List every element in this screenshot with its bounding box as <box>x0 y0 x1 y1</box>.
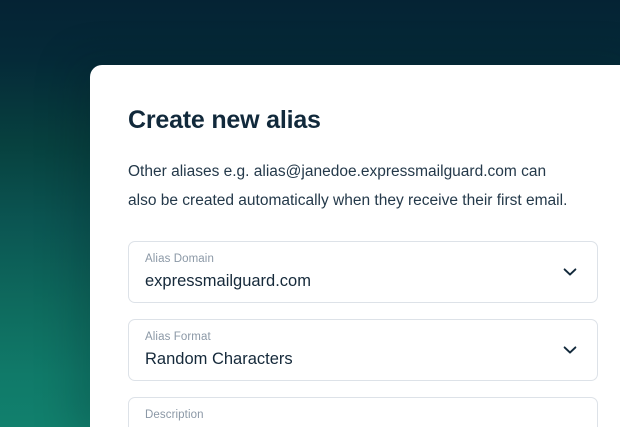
alias-form: Alias Domain expressmailguard.com Alias … <box>128 241 620 427</box>
create-alias-dialog: Create new alias Other aliases e.g. alia… <box>90 65 620 427</box>
dialog-description: Other aliases e.g. alias@janedoe.express… <box>128 157 570 215</box>
alias-domain-value: expressmailguard.com <box>145 270 583 293</box>
screenshot-viewport: Create new alias Other aliases e.g. alia… <box>0 0 620 427</box>
chevron-down-icon[interactable] <box>561 263 579 281</box>
page-title: Create new alias <box>128 105 620 135</box>
description-label: Description <box>145 407 583 423</box>
dialog-content: Create new alias Other aliases e.g. alia… <box>90 65 620 427</box>
alias-format-label: Alias Format <box>145 329 583 345</box>
alias-format-select[interactable]: Alias Format Random Characters <box>128 319 598 381</box>
alias-domain-select[interactable]: Alias Domain expressmailguard.com <box>128 241 598 303</box>
description-input[interactable]: Description <box>128 397 598 427</box>
alias-format-value: Random Characters <box>145 348 583 371</box>
alias-domain-label: Alias Domain <box>145 251 583 267</box>
chevron-down-icon[interactable] <box>561 341 579 359</box>
